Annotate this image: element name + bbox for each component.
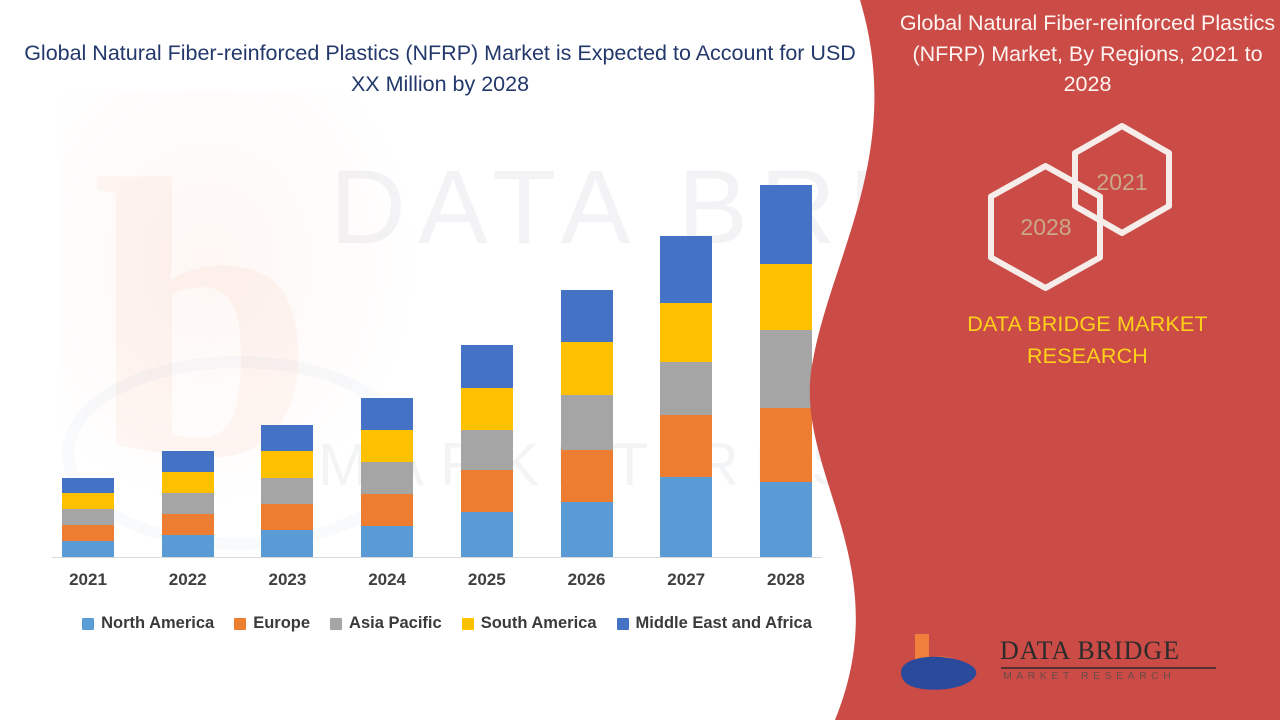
- bar-segment: [760, 408, 812, 482]
- right-panel-content: Global Natural Fiber-reinforced Plastics…: [895, 0, 1280, 720]
- bar-segment: [361, 526, 413, 557]
- x-axis-tick-label: 2027: [660, 570, 712, 600]
- bar-segment: [62, 541, 114, 557]
- bar-segment: [162, 514, 214, 535]
- bar-segment: [760, 264, 812, 330]
- bar-segment: [162, 472, 214, 493]
- bar-segment: [261, 530, 313, 557]
- brand-line-1: DATA BRIDGE MARKET: [895, 308, 1280, 340]
- stacked-bar-chart: [52, 140, 822, 558]
- bar-segment: [660, 415, 712, 477]
- x-axis-tick-label: 2022: [162, 570, 214, 600]
- bar-segment: [561, 502, 613, 557]
- bar-segment: [62, 478, 114, 493]
- bar-segment: [361, 398, 413, 430]
- bar-segment: [261, 425, 313, 451]
- legend-item[interactable]: North America: [82, 614, 214, 633]
- x-axis-tick-label: 2023: [261, 570, 313, 600]
- bar-segment: [660, 303, 712, 362]
- bar-segment: [561, 395, 613, 450]
- legend-swatch-icon: [462, 618, 474, 630]
- logo-wordmark: DATA BRIDGE: [1000, 636, 1180, 666]
- bar-segment: [261, 504, 313, 530]
- bar-segment: [660, 236, 712, 303]
- bar-column: [62, 140, 114, 557]
- plot-area: [52, 140, 822, 558]
- legend-label: Asia Pacific: [349, 614, 442, 633]
- bar-segment: [760, 185, 812, 264]
- bar-segment: [162, 493, 214, 514]
- bar-segment: [261, 451, 313, 478]
- legend-item[interactable]: Europe: [234, 614, 310, 633]
- bar-segment: [162, 535, 214, 557]
- x-axis-tick-label: 2026: [561, 570, 613, 600]
- legend-label: North America: [101, 614, 214, 633]
- logo-tagline: MARKET RESEARCH: [1003, 670, 1175, 682]
- legend-label: Europe: [253, 614, 310, 633]
- page-title: Global Natural Fiber-reinforced Plastics…: [12, 38, 868, 99]
- bar-column: [261, 140, 313, 557]
- legend-label: Middle East and Africa: [636, 614, 812, 633]
- legend-swatch-icon: [234, 618, 246, 630]
- logo-divider: [1001, 667, 1216, 669]
- bar-segment: [62, 525, 114, 541]
- bar-segment: [561, 450, 613, 502]
- legend-swatch-icon: [617, 618, 629, 630]
- data-bridge-logo: DATA BRIDGE MARKET RESEARCH: [895, 626, 1235, 706]
- bar-segment: [461, 430, 513, 470]
- legend-swatch-icon: [82, 618, 94, 630]
- x-axis-labels: 20212022202320242025202620272028: [52, 570, 822, 600]
- bar-column: [461, 140, 513, 557]
- bar-segment: [62, 509, 114, 525]
- bar-column: [660, 140, 712, 557]
- x-axis-tick-label: 2024: [361, 570, 413, 600]
- bar-segment: [660, 362, 712, 415]
- bar-group: [52, 140, 822, 557]
- x-axis-line: [52, 557, 822, 558]
- infographic-slide: b DATA BRIDGE MARKET RESEARCH Global Nat…: [0, 0, 1280, 720]
- right-panel-title: Global Natural Fiber-reinforced Plastics…: [895, 8, 1280, 100]
- legend-item[interactable]: Asia Pacific: [330, 614, 442, 633]
- hexagon-graphic: 2028 2021: [895, 140, 1280, 290]
- bar-segment: [261, 478, 313, 504]
- bar-segment: [760, 330, 812, 408]
- legend-item[interactable]: South America: [462, 614, 597, 633]
- bar-segment: [561, 290, 613, 342]
- logo-mark-icon: [897, 628, 997, 700]
- legend-label: South America: [481, 614, 597, 633]
- x-axis-tick-label: 2025: [461, 570, 513, 600]
- brand-line-2: RESEARCH: [895, 340, 1280, 372]
- bar-segment: [461, 512, 513, 557]
- bar-segment: [361, 462, 413, 494]
- bar-column: [361, 140, 413, 557]
- hexagon-2028-label: 2028: [1007, 214, 1085, 241]
- bar-segment: [162, 451, 214, 472]
- left-chart-panel: b DATA BRIDGE MARKET RESEARCH Global Nat…: [0, 0, 880, 720]
- bar-segment: [361, 430, 413, 462]
- bar-segment: [760, 482, 812, 557]
- bar-segment: [660, 477, 712, 557]
- bar-segment: [461, 470, 513, 512]
- bar-column: [162, 140, 214, 557]
- chart-legend: North AmericaEuropeAsia PacificSouth Ame…: [52, 614, 842, 633]
- legend-item[interactable]: Middle East and Africa: [617, 614, 812, 633]
- bar-segment: [62, 493, 114, 509]
- bar-segment: [361, 494, 413, 526]
- bar-column: [760, 140, 812, 557]
- x-axis-tick-label: 2028: [760, 570, 812, 600]
- hexagon-2021-label: 2021: [1085, 169, 1159, 196]
- bar-column: [561, 140, 613, 557]
- legend-swatch-icon: [330, 618, 342, 630]
- brand-name: DATA BRIDGE MARKET RESEARCH: [895, 308, 1280, 373]
- bar-segment: [561, 342, 613, 395]
- x-axis-tick-label: 2021: [62, 570, 114, 600]
- bar-segment: [461, 345, 513, 388]
- bar-segment: [461, 388, 513, 430]
